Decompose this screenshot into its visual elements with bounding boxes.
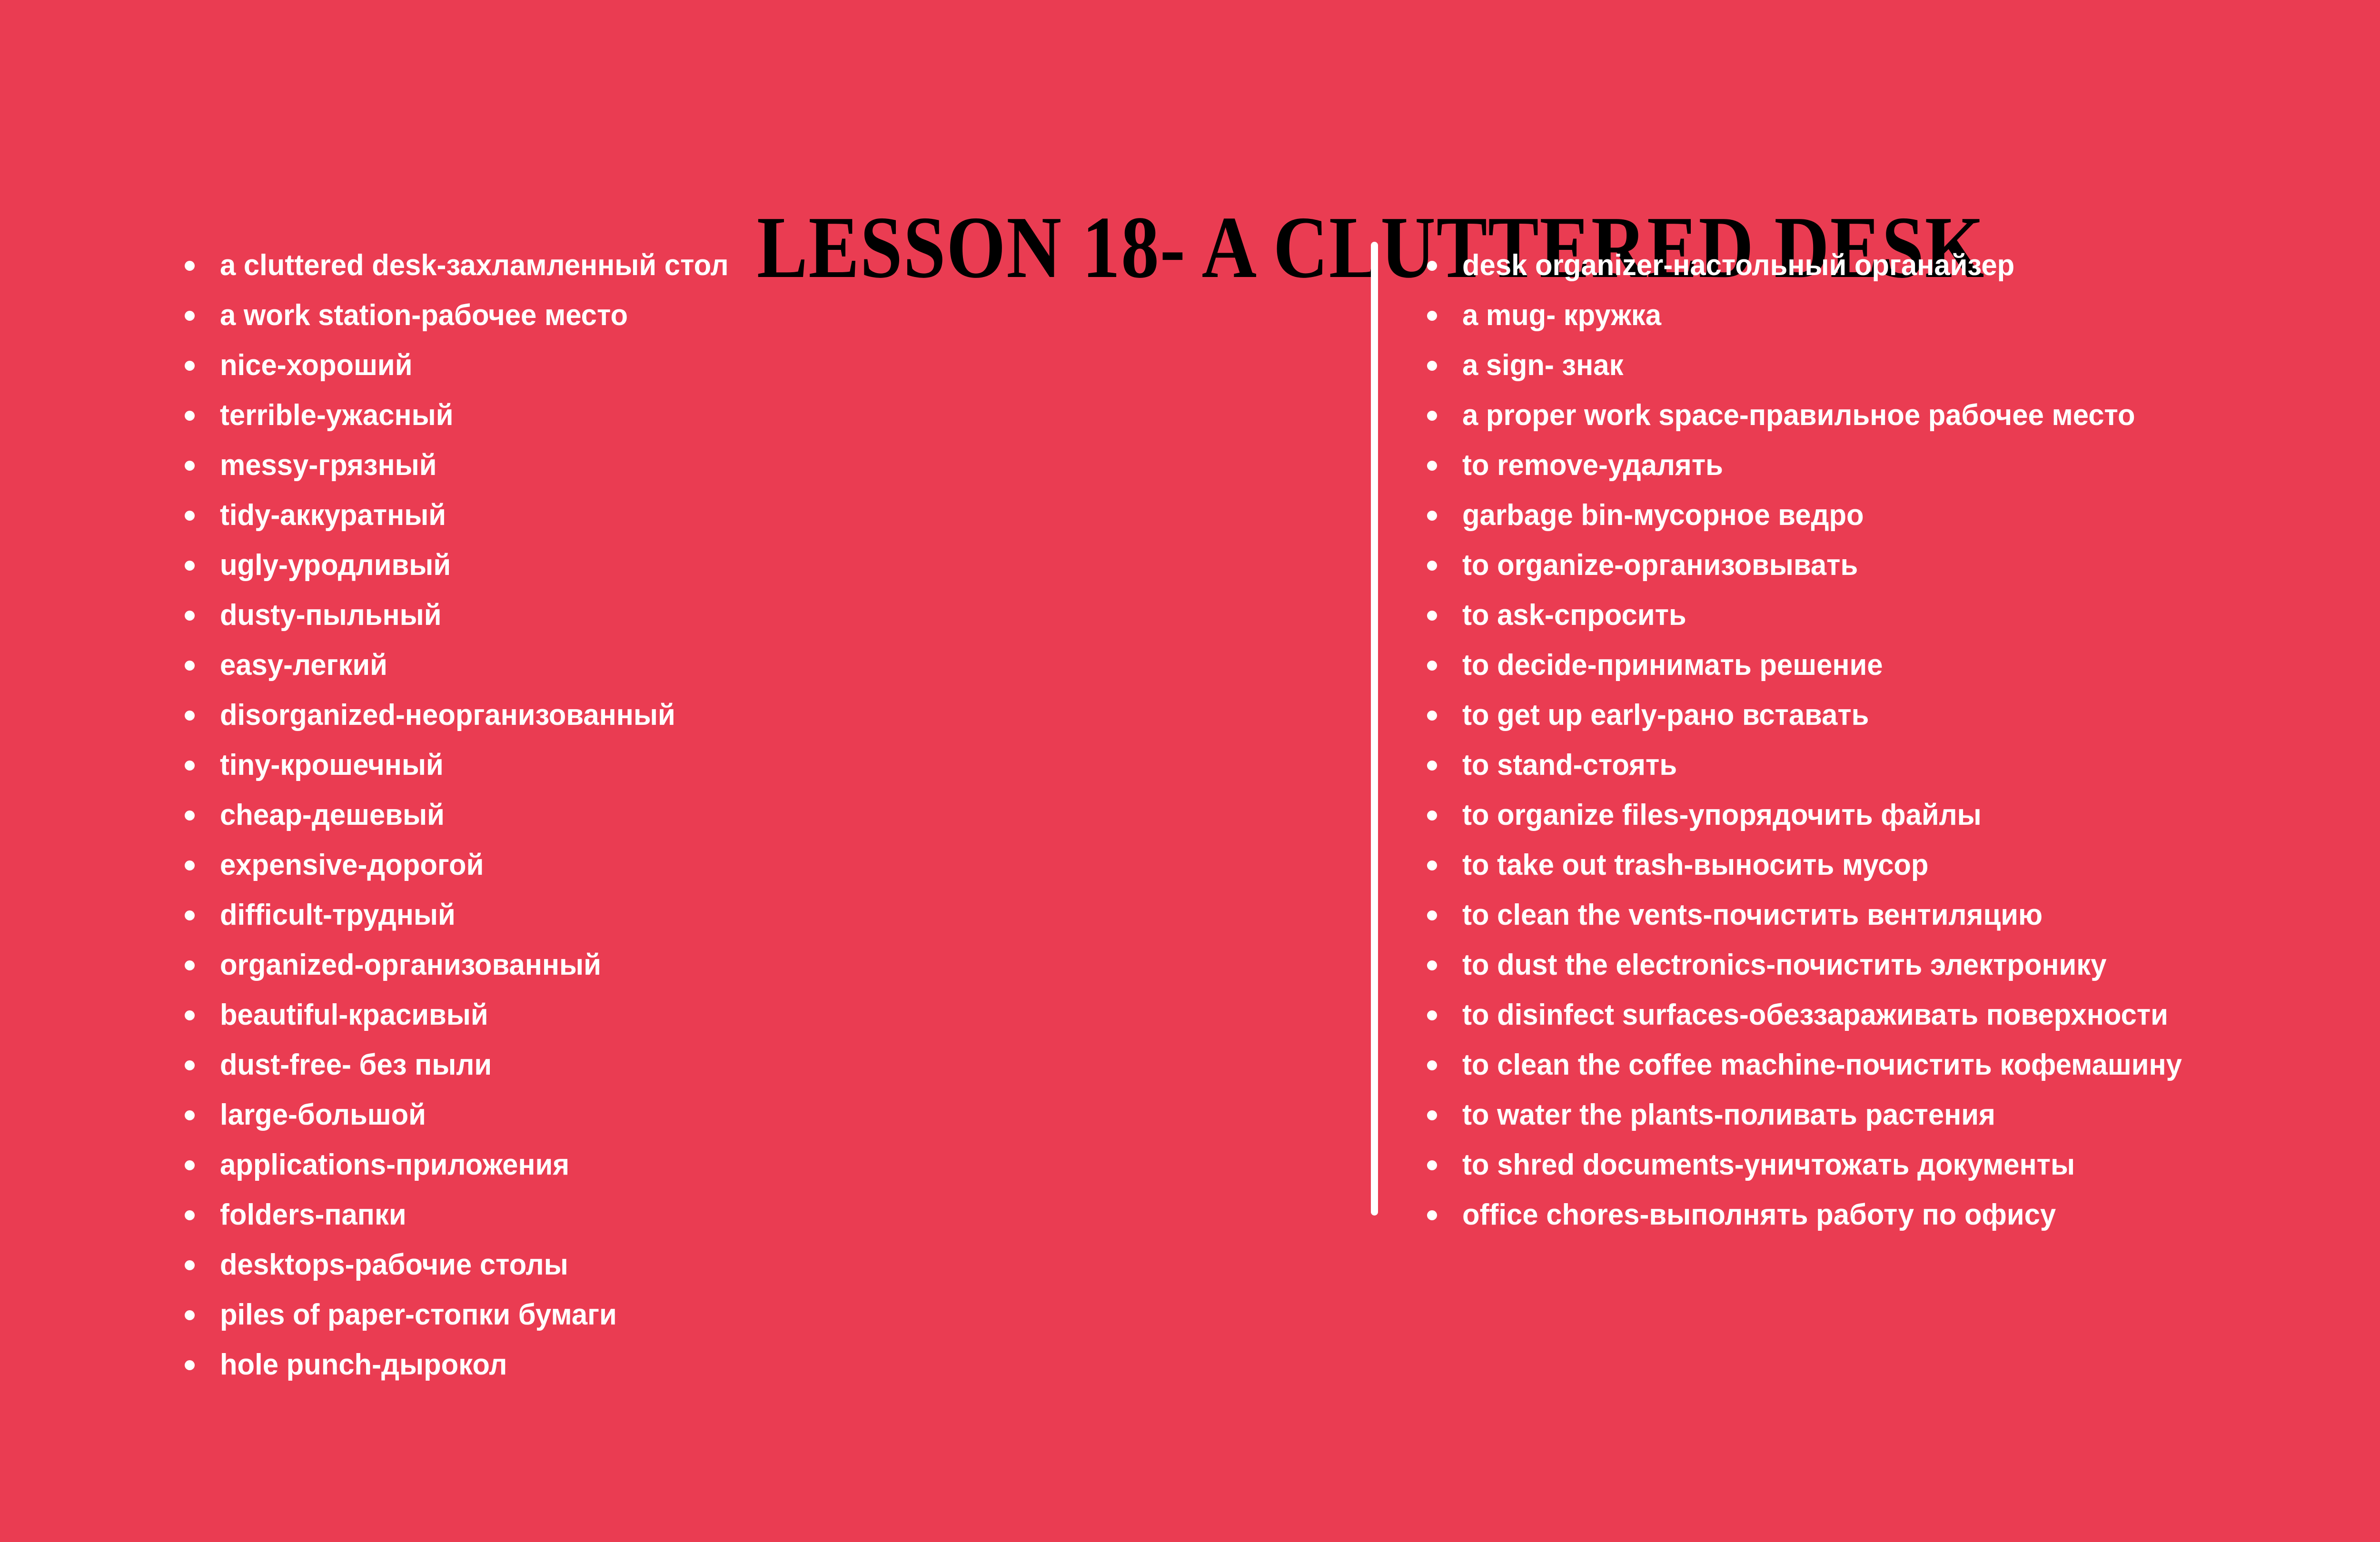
list-item: to clean the vents-почистить вентиляцию (1422, 890, 2380, 940)
list-item: disorganized-неорганизованный (180, 690, 1351, 740)
list-item-label: a proper work space-правильное рабочее м… (1462, 390, 2135, 440)
bullet-icon (185, 761, 195, 771)
bullet-icon (1427, 1060, 1437, 1070)
list-item: terrible-ужасный (180, 390, 1351, 440)
list-item-label: a sign- знак (1462, 340, 1624, 390)
list-item: to disinfect surfaces-обеззараживать пов… (1422, 990, 2380, 1040)
list-item: to stand-стоять (1422, 740, 2380, 790)
list-item: applications-приложения (180, 1140, 1351, 1190)
list-item: folders-папки (180, 1190, 1351, 1240)
list-item-label: to clean the coffee machine-почистить ко… (1462, 1040, 2182, 1090)
list-item-label: a mug- кружка (1462, 290, 1661, 340)
bullet-icon (185, 561, 195, 571)
list-item-label: to remove-удалять (1462, 440, 1723, 490)
list-item: to take out trash-выносить мусор (1422, 840, 2380, 890)
bullet-icon (1427, 960, 1437, 970)
list-item: a cluttered desk-захламленный стол (180, 240, 1351, 290)
bullet-icon (1427, 761, 1437, 771)
list-item-label: ugly-уродливый (220, 540, 451, 590)
list-item: to organize files-упорядочить файлы (1422, 790, 2380, 840)
bullet-icon (1427, 1210, 1437, 1220)
vocabulary-list-right: desk organizer-настольный органайзерa mu… (1422, 240, 2380, 1240)
list-item: ugly-уродливый (180, 540, 1351, 590)
bullet-icon (185, 411, 195, 421)
bullet-icon (185, 661, 195, 671)
list-item-label: to shred documents-уничтожать документы (1462, 1140, 2075, 1190)
bullet-icon (185, 1210, 195, 1220)
bullet-icon (1427, 561, 1437, 571)
list-item: hole punch-дырокол (180, 1340, 1351, 1390)
list-item-label: terrible-ужасный (220, 390, 453, 440)
list-item-label: to disinfect surfaces-обеззараживать пов… (1462, 990, 2168, 1040)
list-item: organized-организованный (180, 940, 1351, 990)
list-item-label: tidy-аккуратный (220, 490, 446, 540)
bullet-icon (1427, 1110, 1437, 1120)
list-item-label: easy-легкий (220, 640, 387, 690)
list-item-label: cheap-дешевый (220, 790, 445, 840)
vocabulary-list-left: a cluttered desk-захламленный столa work… (180, 240, 1351, 1390)
bullet-icon (1427, 611, 1437, 621)
list-item: easy-легкий (180, 640, 1351, 690)
list-item: tidy-аккуратный (180, 490, 1351, 540)
list-item: garbage bin-мусорное ведро (1422, 490, 2380, 540)
bullet-icon (1427, 910, 1437, 920)
list-item-label: hole punch-дырокол (220, 1340, 507, 1390)
list-item: to organize-организовывать (1422, 540, 2380, 590)
bullet-icon (1427, 411, 1437, 421)
list-item: beautiful-красивый (180, 990, 1351, 1040)
bullet-icon (185, 1160, 195, 1170)
bullet-icon (185, 1260, 195, 1270)
bullet-icon (1427, 361, 1437, 371)
list-item: a sign- знак (1422, 340, 2380, 390)
list-item: to clean the coffee machine-почистить ко… (1422, 1040, 2380, 1090)
bullet-icon (1427, 1160, 1437, 1170)
list-item: messy-грязный (180, 440, 1351, 490)
list-item-label: tiny-крошечный (220, 740, 444, 790)
bullet-icon (1427, 261, 1437, 271)
list-item-label: to organize files-упорядочить файлы (1462, 790, 1982, 840)
bullet-icon (185, 1060, 195, 1070)
bullet-icon (185, 910, 195, 920)
list-item-label: dusty-пыльный (220, 590, 442, 640)
slide-canvas: LESSON 18- A CLUTTERED DESK a cluttered … (0, 0, 2380, 1542)
list-item: a work station-рабочее место (180, 290, 1351, 340)
bullet-icon (185, 1310, 195, 1320)
bullet-icon (185, 311, 195, 321)
list-item-label: difficult-трудный (220, 890, 456, 940)
list-item-label: applications-приложения (220, 1140, 569, 1190)
bullet-icon (1427, 511, 1437, 521)
list-item: cheap-дешевый (180, 790, 1351, 840)
list-item: nice-хороший (180, 340, 1351, 390)
list-item-label: large-большой (220, 1090, 426, 1140)
list-item-label: a cluttered desk-захламленный стол (220, 240, 729, 290)
list-item: dust-free- без пыли (180, 1040, 1351, 1090)
bullet-icon (1427, 711, 1437, 721)
bullet-icon (185, 860, 195, 870)
list-item: desktops-рабочие столы (180, 1240, 1351, 1290)
list-item-label: nice-хороший (220, 340, 413, 390)
bullet-icon (1427, 1010, 1437, 1020)
list-item-label: folders-папки (220, 1190, 407, 1240)
list-item-label: office chores-выполнять работу по офису (1462, 1190, 2056, 1240)
list-item-label: organized-организованный (220, 940, 601, 990)
list-item-label: to get up early-рано вставать (1462, 690, 1869, 740)
list-item: difficult-трудный (180, 890, 1351, 940)
list-item-label: disorganized-неорганизованный (220, 690, 675, 740)
list-item: large-большой (180, 1090, 1351, 1140)
list-item: to shred documents-уничтожать документы (1422, 1140, 2380, 1190)
list-item: to dust the electronics-почистить электр… (1422, 940, 2380, 990)
list-item-label: dust-free- без пыли (220, 1040, 492, 1090)
bullet-icon (185, 711, 195, 721)
column-divider (1371, 242, 1378, 1216)
bullet-icon (1427, 860, 1437, 870)
list-item-label: a work station-рабочее место (220, 290, 628, 340)
list-item: to ask-спросить (1422, 590, 2380, 640)
list-item-label: to ask-спросить (1462, 590, 1686, 640)
list-item: to decide-принимать решение (1422, 640, 2380, 690)
bullet-icon (1427, 811, 1437, 820)
list-item-label: beautiful-красивый (220, 990, 488, 1040)
list-item-label: to organize-организовывать (1462, 540, 1858, 590)
bullet-icon (185, 1360, 195, 1370)
list-item: to remove-удалять (1422, 440, 2380, 490)
bullet-icon (185, 811, 195, 820)
bullet-icon (185, 261, 195, 271)
bullet-icon (185, 1110, 195, 1120)
list-item: tiny-крошечный (180, 740, 1351, 790)
bullet-icon (185, 960, 195, 970)
bullet-icon (185, 611, 195, 621)
list-item-label: piles of paper-стопки бумаги (220, 1290, 617, 1340)
list-item-label: desk organizer-настольный органайзер (1462, 240, 2014, 290)
list-item-label: to stand-стоять (1462, 740, 1677, 790)
list-item: to get up early-рано вставать (1422, 690, 2380, 740)
bullet-icon (185, 1010, 195, 1020)
list-item: office chores-выполнять работу по офису (1422, 1190, 2380, 1240)
bullet-icon (185, 461, 195, 471)
bullet-icon (185, 361, 195, 371)
list-item: desk organizer-настольный органайзер (1422, 240, 2380, 290)
list-item-label: desktops-рабочие столы (220, 1240, 568, 1290)
list-item-label: garbage bin-мусорное ведро (1462, 490, 1864, 540)
list-item-label: to clean the vents-почистить вентиляцию (1462, 890, 2043, 940)
list-item: expensive-дорогой (180, 840, 1351, 890)
list-item: a mug- кружка (1422, 290, 2380, 340)
bullet-icon (1427, 461, 1437, 471)
list-item: dusty-пыльный (180, 590, 1351, 640)
list-item-label: to take out trash-выносить мусор (1462, 840, 1928, 890)
list-item-label: messy-грязный (220, 440, 437, 490)
list-item-label: to dust the electronics-почистить электр… (1462, 940, 2107, 990)
bullet-icon (1427, 661, 1437, 671)
bullet-icon (1427, 311, 1437, 321)
list-item: a proper work space-правильное рабочее м… (1422, 390, 2380, 440)
list-item-label: expensive-дорогой (220, 840, 484, 890)
list-item-label: to decide-принимать решение (1462, 640, 1883, 690)
list-item: piles of paper-стопки бумаги (180, 1290, 1351, 1340)
bullet-icon (185, 511, 195, 521)
list-item: to water the plants-поливать растения (1422, 1090, 2380, 1140)
list-item-label: to water the plants-поливать растения (1462, 1090, 1995, 1140)
